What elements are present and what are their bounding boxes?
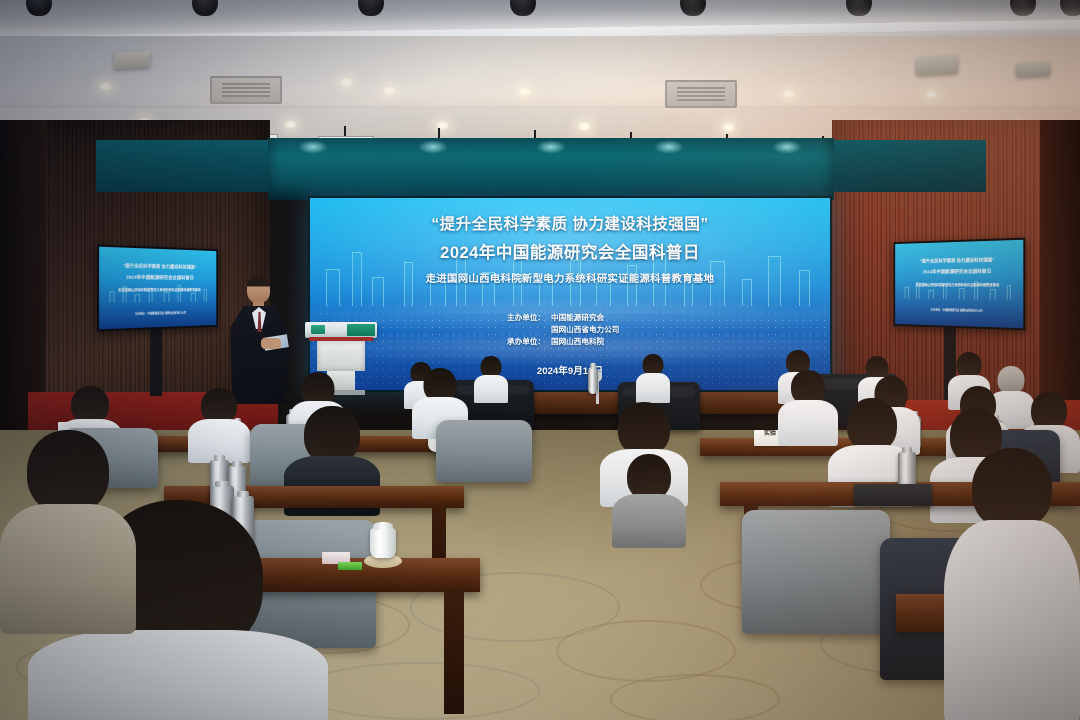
co-organizer-name: 国网山西电科院 xyxy=(551,336,659,348)
audience-person xyxy=(188,388,250,456)
thermos-flask xyxy=(588,368,598,394)
person-torso xyxy=(0,504,136,634)
ac-vent xyxy=(665,80,737,108)
teacup-with-lid xyxy=(370,528,396,558)
screen-title-line2: 2024年中国能源研究会全国科普日 xyxy=(310,239,830,263)
screen-organizers: 主办单位：中国能源研究会 国网山西省电力公司 承办单位：国网山西电科院 xyxy=(310,312,830,347)
person-head xyxy=(618,402,670,456)
co-organizer-label: 承办单位： xyxy=(481,336,551,348)
ceiling-downlight xyxy=(518,87,531,96)
ceiling-mid-slab xyxy=(0,36,1080,114)
screen-subtitle: 走进国网山西电科院新型电力系统科研实证能源科普教育基地 xyxy=(310,270,830,285)
person-head xyxy=(847,398,897,452)
person-torso xyxy=(28,630,328,720)
table-leg xyxy=(444,588,464,714)
podium-body xyxy=(317,341,365,371)
side-left-subtitle: 走进国网山西电科院新型电力系统科研实证能源科普教育基地 xyxy=(99,287,216,292)
ceiling-speaker xyxy=(1016,61,1050,77)
ceiling-speaker xyxy=(114,51,150,69)
green-card xyxy=(338,562,362,570)
teal-panel-right xyxy=(830,140,986,192)
main-led-screen[interactable]: “提升全民科学素质 协力建设科技强国” 2024年中国能源研究会全国科普日 走进… xyxy=(308,196,832,392)
podium-green-accent xyxy=(311,325,325,334)
side-left-title-line2: 2024年中国能源研究会全国科普日 xyxy=(99,273,216,281)
audience-person xyxy=(612,454,686,540)
side-right-title-line2: 2024年中国能源研究会全国科普日 xyxy=(895,268,1023,276)
audience-person xyxy=(474,356,508,402)
side-right-subtitle: 走进国网山西电科院新型电力系统科研实证能源科普教育基地 xyxy=(895,282,1023,287)
person-head xyxy=(972,448,1052,530)
organizer-name-2: 国网山西省电力公司 xyxy=(551,324,659,336)
audience-person xyxy=(636,354,670,402)
side-left-title-line1: “提升全民科学素质 协力建设科技强国” xyxy=(99,263,216,271)
side-display-left[interactable]: “提升全民科学素质 协力建设科技强国” 2024年中国能源研究会全国科普日 走进… xyxy=(97,244,218,331)
ceiling-downlight xyxy=(782,89,795,98)
ceiling-downlight xyxy=(383,86,396,95)
ceiling-speaker xyxy=(916,55,958,75)
person-torso xyxy=(636,373,670,403)
audience-person-foreground xyxy=(0,430,136,630)
podium-green-accent xyxy=(347,324,375,336)
conference-hall-photo: “提升全民科学素质 协力建设科技强国” 2024年中国能源研究会全国科普日 走进… xyxy=(0,0,1080,720)
person-torso xyxy=(944,520,1080,720)
screen-title-line1: “提升全民科学素质 协力建设科技强国” xyxy=(310,212,830,234)
side-right-organizers: 主办单位：中国能源研究会 国网山西省电力公司 xyxy=(895,308,1023,315)
ceiling-downlight xyxy=(284,120,297,129)
speaker-person xyxy=(228,276,290,404)
audience-person-foreground xyxy=(944,448,1080,720)
side-display-right[interactable]: “提升全民科学素质 协力建设科技强国” 2024年中国能源研究会全国科普日 走进… xyxy=(893,238,1025,331)
ac-vent xyxy=(210,76,282,104)
ceiling-downlight xyxy=(340,78,353,87)
audience-chair[interactable] xyxy=(436,420,532,482)
laptop[interactable] xyxy=(854,484,932,506)
ceiling-downlight xyxy=(925,90,938,99)
speaker-hand xyxy=(261,338,281,349)
audience-chair[interactable] xyxy=(742,510,890,634)
person-torso xyxy=(612,494,686,548)
speaker-head xyxy=(247,276,270,303)
side-left-organizers: 主办单位：中国能源研究会 国网山西省电力公司 xyxy=(99,311,216,318)
ceiling-downlight xyxy=(578,122,591,131)
organizer-label: 主办单位： xyxy=(481,312,551,324)
teal-panel-center xyxy=(268,138,834,200)
side-right-title-line1: “提升全民科学素质 协力建设科技强国” xyxy=(895,257,1023,265)
screen-date: 2024年9月12日 xyxy=(310,363,830,377)
person-head xyxy=(27,430,109,514)
ceiling-downlight xyxy=(722,123,735,132)
organizer-name-1: 中国能源研究会 xyxy=(551,312,659,324)
teal-panel-left xyxy=(96,140,272,192)
person-torso xyxy=(474,375,508,403)
ceiling-downlight xyxy=(99,82,112,91)
